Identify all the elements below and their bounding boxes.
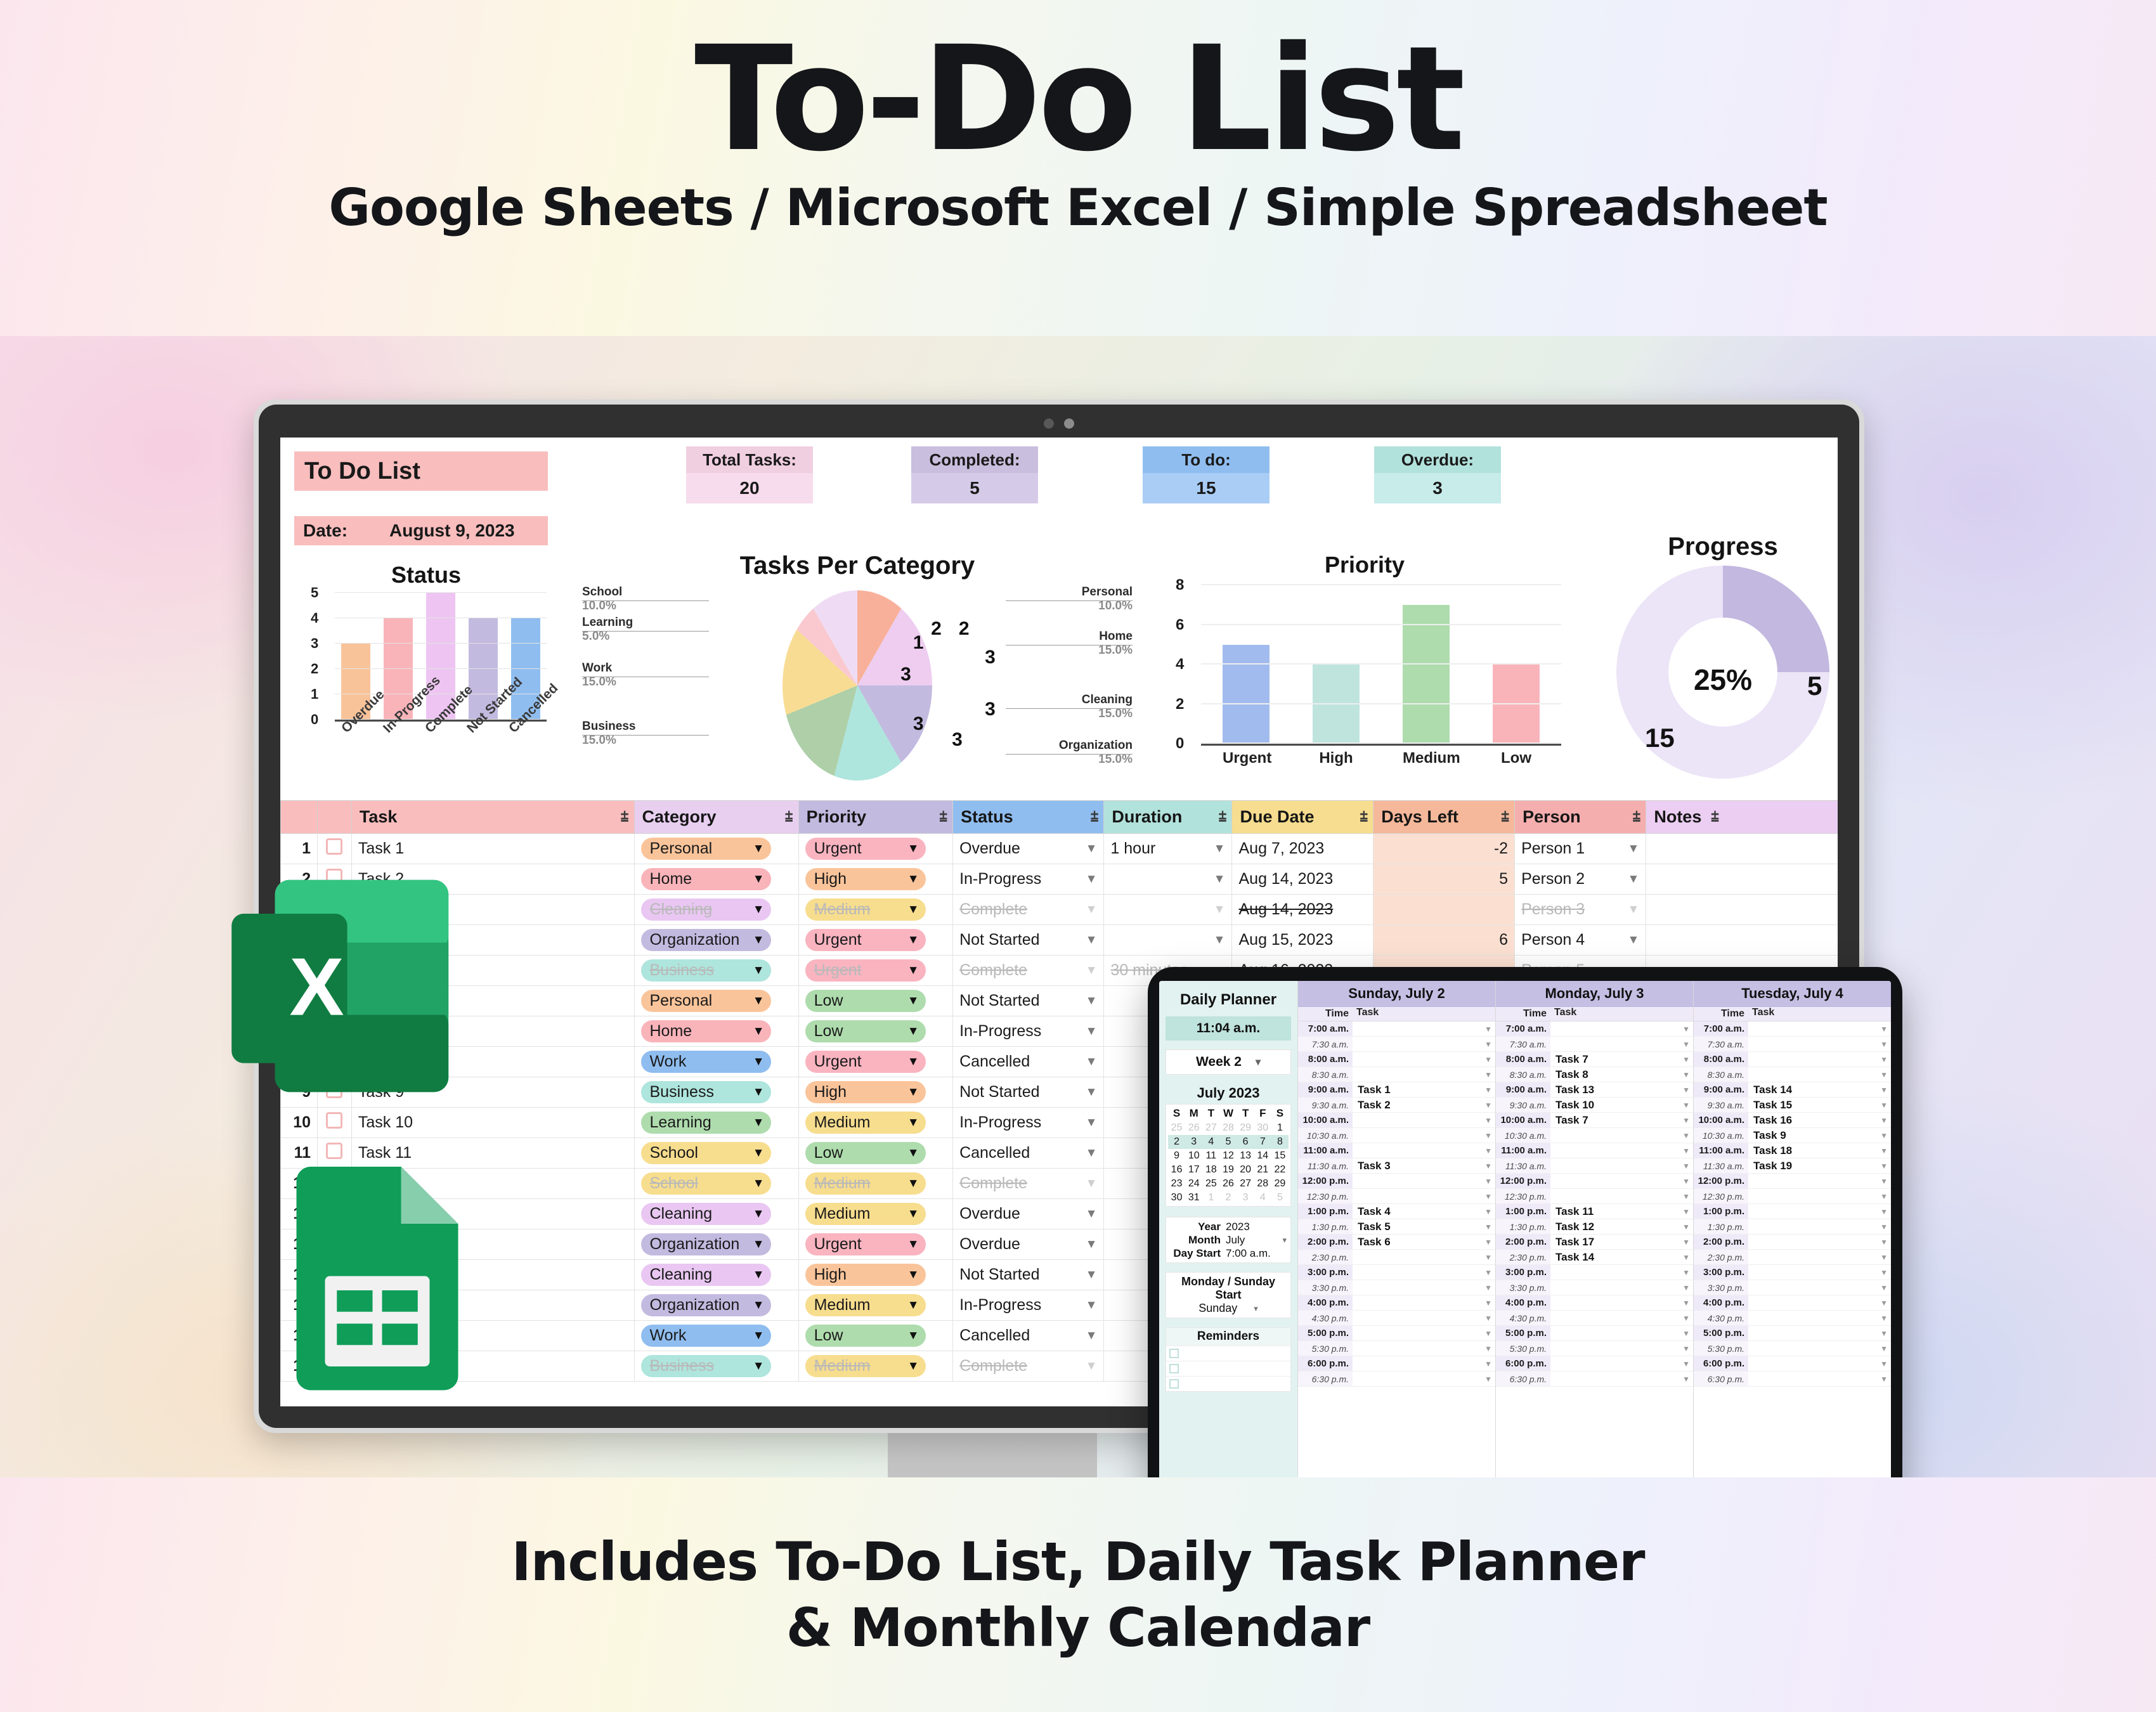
planner-time-slot[interactable]: 9:30 a.m.Task 10▼ (1496, 1098, 1693, 1113)
planner-time-slot[interactable]: 1:00 p.m.▼ (1694, 1204, 1891, 1219)
chevron-down-icon[interactable]: ▼ (753, 1116, 765, 1130)
checkbox-icon[interactable] (326, 838, 342, 855)
calendar-day-cell[interactable]: 2 (1219, 1191, 1237, 1205)
cell-priority[interactable]: Medium▼ (798, 1108, 953, 1138)
chevron-down-icon[interactable]: ▼ (1484, 1101, 1495, 1110)
table-row[interactable]: 4Task 4Organization▼Urgent▼Not Started▼▼… (281, 925, 1838, 956)
cell-duration[interactable]: ▼ (1104, 864, 1232, 895)
chevron-down-icon[interactable]: ▼ (1682, 1025, 1693, 1034)
planner-task-value[interactable]: Task 9 (1748, 1129, 1880, 1142)
chevron-down-icon[interactable]: ▼ (1484, 1086, 1495, 1094)
chevron-down-icon[interactable]: ▼ (1086, 1329, 1098, 1343)
chevron-down-icon[interactable]: ▼ (1086, 1055, 1098, 1069)
chevron-down-icon[interactable]: ▼ (1682, 1253, 1693, 1262)
chevron-down-icon[interactable]: ▼ (753, 1359, 765, 1373)
chevron-down-icon[interactable]: ▼ (1086, 1086, 1098, 1099)
planner-time-slot[interactable]: 10:00 a.m.Task 7▼ (1496, 1113, 1693, 1128)
cell-category[interactable]: Organization▼ (634, 925, 798, 956)
chevron-down-icon[interactable]: ▼ (753, 903, 765, 917)
cell-status[interactable]: In-Progress▼ (953, 864, 1104, 895)
col-days-left[interactable]: Days Left⩲ (1373, 801, 1515, 834)
planner-time-slot[interactable]: 6:30 p.m.▼ (1694, 1372, 1891, 1387)
calendar-day-cell[interactable]: 15 (1271, 1149, 1289, 1163)
chevron-down-icon[interactable]: ▼ (1484, 1070, 1495, 1079)
chevron-down-icon[interactable]: ▼ (1484, 1055, 1495, 1064)
chevron-down-icon[interactable]: ▼ (1682, 1040, 1693, 1049)
calendar-day-cell[interactable]: 23 (1168, 1177, 1185, 1191)
planner-task-value[interactable]: Task 8 (1550, 1068, 1682, 1081)
planner-task-value[interactable]: Task 14 (1550, 1251, 1682, 1264)
calendar-week-row[interactable]: 23242526272829 (1168, 1177, 1289, 1191)
chevron-down-icon[interactable]: ▼ (1484, 1314, 1495, 1323)
chevron-down-icon[interactable]: ▼ (1484, 1116, 1495, 1125)
chevron-down-icon[interactable]: ▼ (1214, 933, 1226, 947)
planner-task-value[interactable]: Task 7 (1550, 1053, 1682, 1066)
chevron-down-icon[interactable]: ▼ (1086, 1116, 1098, 1130)
chevron-down-icon[interactable]: ▼ (1880, 1192, 1891, 1201)
day-start-value[interactable]: 7:00 a.m. (1226, 1247, 1271, 1260)
checkbox-icon[interactable] (1169, 1364, 1179, 1373)
planner-task-value[interactable]: Task 12 (1550, 1221, 1682, 1233)
cell-task[interactable]: Task 10 (351, 1108, 634, 1138)
chevron-down-icon[interactable]: ▼ (1484, 1131, 1495, 1140)
planner-time-slot[interactable]: 7:30 a.m.▼ (1496, 1037, 1693, 1052)
chevron-down-icon[interactable]: ▼ (1484, 1283, 1495, 1292)
chevron-down-icon[interactable]: ▼ (753, 1299, 765, 1313)
chevron-down-icon[interactable]: ▼ (1086, 903, 1098, 917)
chevron-down-icon[interactable]: ▼ (1086, 1359, 1098, 1373)
checkbox-icon[interactable] (326, 1112, 342, 1129)
chevron-down-icon[interactable]: ▼ (1880, 1222, 1891, 1231)
planner-time-slot[interactable]: 2:00 p.m.Task 17▼ (1496, 1235, 1693, 1250)
chevron-down-icon[interactable]: ▼ (1682, 1070, 1693, 1079)
planner-task-value[interactable]: Task 15 (1748, 1099, 1880, 1112)
chevron-down-icon[interactable]: ▼ (1682, 1329, 1693, 1338)
cell-person[interactable]: Person 3▼ (1515, 895, 1646, 925)
chevron-down-icon[interactable]: ▼ (1682, 1192, 1693, 1201)
calendar-day-cell[interactable]: 22 (1271, 1163, 1289, 1177)
planner-time-slot[interactable]: 5:00 p.m.▼ (1496, 1326, 1693, 1341)
chevron-down-icon[interactable]: ▼ (1682, 1344, 1693, 1353)
calendar-day-cell[interactable]: 28 (1254, 1177, 1271, 1191)
calendar-day-cell[interactable]: 12 (1219, 1149, 1237, 1163)
planner-task-value[interactable]: Task 6 (1353, 1236, 1484, 1248)
chevron-down-icon[interactable]: ▼ (1214, 903, 1226, 917)
chevron-down-icon[interactable]: ▼ (1682, 1375, 1693, 1384)
chevron-down-icon[interactable]: ▼ (1628, 842, 1640, 856)
chevron-down-icon[interactable]: ▼ (907, 1207, 919, 1221)
col-status[interactable]: Status⩲ (953, 801, 1104, 834)
chevron-down-icon[interactable]: ▼ (1880, 1116, 1891, 1125)
cell-status[interactable]: In-Progress▼ (953, 1016, 1104, 1047)
filter-icon[interactable]: ⩲ (621, 809, 629, 826)
cell-category[interactable]: Business▼ (634, 956, 798, 986)
chevron-down-icon[interactable]: ▼ (1086, 842, 1098, 856)
calendar-day-cell[interactable]: 1 (1271, 1121, 1289, 1135)
cell-priority[interactable]: Low▼ (798, 1016, 953, 1047)
calendar-day-cell[interactable]: 3 (1237, 1191, 1254, 1205)
chevron-down-icon[interactable]: ▼ (1880, 1253, 1891, 1262)
cell-status[interactable]: In-Progress▼ (953, 1290, 1104, 1321)
calendar-day-cell[interactable]: 29 (1271, 1177, 1289, 1191)
chevron-down-icon[interactable]: ▼ (1880, 1375, 1891, 1384)
chevron-down-icon[interactable]: ▼ (1086, 964, 1098, 978)
chevron-down-icon[interactable]: ▼ (1484, 1375, 1495, 1384)
calendar-day-cell[interactable]: 9 (1168, 1149, 1185, 1163)
calendar-day-cell[interactable]: 21 (1254, 1163, 1271, 1177)
calendar-week-row[interactable]: 2526272829301 (1168, 1121, 1289, 1135)
row-checkbox-cell[interactable] (318, 1108, 352, 1138)
calendar-day-cell[interactable]: 28 (1219, 1121, 1237, 1135)
chevron-down-icon[interactable]: ▼ (1086, 1268, 1098, 1282)
col-person[interactable]: Person⩲ (1515, 801, 1646, 834)
calendar-day-cell[interactable]: 18 (1202, 1163, 1219, 1177)
table-row[interactable]: 2Task 2Home▼High▼In-Progress▼▼Aug 14, 20… (281, 864, 1838, 895)
reminder-item[interactable] (1166, 1346, 1290, 1361)
chevron-down-icon[interactable]: ▾ (1254, 1304, 1258, 1314)
chevron-down-icon[interactable]: ▼ (1484, 1192, 1495, 1201)
filter-icon[interactable]: ⩲ (1501, 809, 1509, 826)
checkbox-icon[interactable] (1169, 1349, 1179, 1358)
chevron-down-icon[interactable]: ▼ (1880, 1344, 1891, 1353)
planner-time-slot[interactable]: 3:30 p.m.▼ (1298, 1280, 1495, 1295)
calendar-day-cell[interactable]: 29 (1237, 1121, 1254, 1135)
planner-task-value[interactable]: Task 5 (1353, 1221, 1484, 1233)
filter-icon[interactable]: ⩲ (1091, 809, 1099, 826)
cell-status[interactable]: Not Started▼ (953, 925, 1104, 956)
cell-priority[interactable]: Medium▼ (798, 1169, 953, 1199)
chevron-down-icon[interactable]: ▼ (1682, 1086, 1693, 1094)
chevron-down-icon[interactable]: ▼ (1086, 994, 1098, 1008)
chevron-down-icon[interactable]: ▼ (1484, 1299, 1495, 1307)
week-selector[interactable]: Week 2 ▾ (1166, 1049, 1291, 1075)
chevron-down-icon[interactable]: ▼ (907, 1177, 919, 1191)
planner-time-slot[interactable]: 3:00 p.m.▼ (1496, 1265, 1693, 1280)
chevron-down-icon[interactable]: ▼ (907, 842, 919, 856)
cell-status[interactable]: Overdue▼ (953, 1199, 1104, 1229)
calendar-day-cell[interactable]: 26 (1219, 1177, 1237, 1191)
planner-time-slot[interactable]: 10:00 a.m.Task 16▼ (1694, 1113, 1891, 1128)
chevron-down-icon[interactable]: ▼ (907, 903, 919, 917)
planner-time-slot[interactable]: 7:00 a.m.▼ (1298, 1021, 1495, 1037)
chevron-down-icon[interactable]: ▼ (753, 1055, 765, 1069)
calendar-day-cell[interactable]: 31 (1185, 1191, 1202, 1205)
planner-time-slot[interactable]: 11:00 a.m.▼ (1298, 1143, 1495, 1158)
chevron-down-icon[interactable]: ▼ (753, 1207, 765, 1221)
cell-category[interactable]: Cleaning▼ (634, 1199, 798, 1229)
cell-category[interactable]: Work▼ (634, 1321, 798, 1351)
chevron-down-icon[interactable]: ▼ (753, 964, 765, 978)
cell-category[interactable]: Business▼ (634, 1077, 798, 1108)
calendar-day-cell[interactable]: 24 (1185, 1177, 1202, 1191)
chevron-down-icon[interactable]: ▼ (907, 1238, 919, 1252)
cell-priority[interactable]: Medium▼ (798, 1351, 953, 1382)
planner-time-slot[interactable]: 7:00 a.m.▼ (1694, 1021, 1891, 1037)
reminders-panel[interactable]: Reminders (1166, 1327, 1291, 1392)
planner-time-slot[interactable]: 8:30 a.m.▼ (1298, 1067, 1495, 1082)
chevron-down-icon[interactable]: ▼ (1484, 1025, 1495, 1034)
cell-due-date[interactable]: Aug 7, 2023 (1232, 834, 1373, 864)
cell-priority[interactable]: Urgent▼ (798, 925, 953, 956)
chevron-down-icon[interactable]: ▼ (753, 1025, 765, 1039)
cell-priority[interactable]: High▼ (798, 864, 953, 895)
table-row[interactable]: 1Task 1Personal▼Urgent▼Overdue▼1 hour▼Au… (281, 834, 1838, 864)
planner-time-slot[interactable]: 5:00 p.m.▼ (1694, 1326, 1891, 1341)
chevron-down-icon[interactable]: ▼ (1484, 1040, 1495, 1049)
planner-time-slot[interactable]: 2:30 p.m.▼ (1298, 1250, 1495, 1265)
planner-time-slot[interactable]: 4:00 p.m.▼ (1694, 1295, 1891, 1311)
cell-category[interactable]: Personal▼ (634, 986, 798, 1016)
cell-notes[interactable] (1646, 864, 1838, 895)
cell-due-date[interactable]: Aug 14, 2023 (1232, 895, 1373, 925)
planner-time-slot[interactable]: 4:30 p.m.▼ (1298, 1311, 1495, 1326)
planner-time-slot[interactable]: 6:00 p.m.▼ (1298, 1356, 1495, 1372)
filter-icon[interactable]: ⩲ (1360, 809, 1368, 826)
cell-duration[interactable]: ▼ (1104, 925, 1232, 956)
col-priority[interactable]: Priority⩲ (798, 801, 953, 834)
calendar-day-cell[interactable]: 11 (1202, 1149, 1219, 1163)
planner-task-value[interactable]: Task 1 (1353, 1084, 1484, 1096)
cell-category[interactable]: School▼ (634, 1138, 798, 1169)
planner-time-slot[interactable]: 10:30 a.m.▼ (1496, 1128, 1693, 1143)
cell-priority[interactable]: Urgent▼ (798, 1047, 953, 1077)
calendar-day-cell[interactable]: 6 (1237, 1135, 1254, 1149)
planner-time-slot[interactable]: 5:00 p.m.▼ (1298, 1326, 1495, 1341)
calendar-day-cell[interactable]: 27 (1202, 1121, 1219, 1135)
planner-time-slot[interactable]: 9:30 a.m.Task 2▼ (1298, 1098, 1495, 1113)
chevron-down-icon[interactable]: ▼ (1880, 1101, 1891, 1110)
planner-time-slot[interactable]: 11:00 a.m.▼ (1496, 1143, 1693, 1158)
planner-time-slot[interactable]: 12:30 p.m.▼ (1694, 1189, 1891, 1204)
calendar-day-cell[interactable]: 26 (1185, 1121, 1202, 1135)
chevron-down-icon[interactable]: ▼ (1880, 1086, 1891, 1094)
chevron-down-icon[interactable]: ▼ (1880, 1207, 1891, 1216)
planner-time-slot[interactable]: 1:30 p.m.▼ (1694, 1219, 1891, 1235)
calendar-day-cell[interactable]: 3 (1185, 1135, 1202, 1149)
chevron-down-icon[interactable]: ▼ (907, 933, 919, 947)
chevron-down-icon[interactable]: ▼ (1682, 1238, 1693, 1247)
planner-time-slot[interactable]: 9:00 a.m.Task 1▼ (1298, 1082, 1495, 1098)
chevron-down-icon[interactable]: ▼ (753, 872, 765, 886)
planner-time-slot[interactable]: 1:00 p.m.Task 4▼ (1298, 1204, 1495, 1219)
chevron-down-icon[interactable]: ▼ (1880, 1055, 1891, 1064)
chevron-down-icon[interactable]: ▼ (1880, 1025, 1891, 1034)
month-value[interactable]: July (1226, 1234, 1245, 1247)
planner-time-slot[interactable]: 5:30 p.m.▼ (1298, 1341, 1495, 1356)
chevron-down-icon[interactable]: ▼ (907, 964, 919, 978)
planner-time-slot[interactable]: 10:30 a.m.▼ (1298, 1128, 1495, 1143)
cell-due-date[interactable]: Aug 14, 2023 (1232, 864, 1373, 895)
chevron-down-icon[interactable]: ▼ (1682, 1299, 1693, 1307)
cell-priority[interactable]: Medium▼ (798, 1199, 953, 1229)
calendar-day-cell[interactable]: 30 (1168, 1191, 1185, 1205)
calendar-day-cell[interactable]: 25 (1202, 1177, 1219, 1191)
mini-calendar[interactable]: SMTWTFS252627282930123456789101112131415… (1166, 1104, 1291, 1207)
chevron-down-icon[interactable]: ▼ (907, 1359, 919, 1373)
reminder-item[interactable] (1166, 1376, 1290, 1391)
planner-time-slot[interactable]: 2:00 p.m.▼ (1694, 1235, 1891, 1250)
chevron-down-icon[interactable]: ▼ (1086, 872, 1098, 886)
calendar-day-cell[interactable]: 8 (1271, 1135, 1289, 1149)
planner-time-slot[interactable]: 4:30 p.m.▼ (1694, 1311, 1891, 1326)
calendar-day-cell[interactable]: 17 (1185, 1163, 1202, 1177)
chevron-down-icon[interactable]: ▼ (1086, 1146, 1098, 1160)
planner-time-slot[interactable]: 4:30 p.m.▼ (1496, 1311, 1693, 1326)
planner-time-slot[interactable]: 1:00 p.m.Task 11▼ (1496, 1204, 1693, 1219)
week-start-setting[interactable]: Monday / Sunday Start Sunday▾ (1166, 1272, 1291, 1318)
cell-category[interactable]: Personal▼ (634, 834, 798, 864)
calendar-day-cell[interactable]: 7 (1254, 1135, 1271, 1149)
planner-task-value[interactable]: Task 10 (1550, 1099, 1682, 1112)
planner-time-slot[interactable]: 12:00 p.m.▼ (1298, 1174, 1495, 1189)
cell-status[interactable]: Not Started▼ (953, 986, 1104, 1016)
planner-time-slot[interactable]: 6:30 p.m.▼ (1496, 1372, 1693, 1387)
planner-time-slot[interactable]: 8:00 a.m.▼ (1298, 1052, 1495, 1067)
calendar-day-cell[interactable]: 2 (1168, 1135, 1185, 1149)
chevron-down-icon[interactable]: ▼ (1484, 1222, 1495, 1231)
chevron-down-icon[interactable]: ▼ (1484, 1177, 1495, 1186)
planner-task-value[interactable]: Task 16 (1748, 1114, 1880, 1127)
calendar-day-cell[interactable]: 10 (1185, 1149, 1202, 1163)
cell-category[interactable]: School▼ (634, 1169, 798, 1199)
planner-time-slot[interactable]: 9:00 a.m.Task 13▼ (1496, 1082, 1693, 1098)
planner-time-slot[interactable]: 8:00 a.m.Task 7▼ (1496, 1052, 1693, 1067)
col-due-date[interactable]: Due Date⩲ (1232, 801, 1373, 834)
cell-status[interactable]: Cancelled▼ (953, 1321, 1104, 1351)
chevron-down-icon[interactable]: ▼ (1484, 1329, 1495, 1338)
planner-time-slot[interactable]: 1:30 p.m.Task 5▼ (1298, 1219, 1495, 1235)
cell-category[interactable]: Learning▼ (634, 1108, 798, 1138)
filter-icon[interactable]: ⩲ (1632, 809, 1640, 826)
planner-time-slot[interactable]: 4:00 p.m.▼ (1496, 1295, 1693, 1311)
table-row[interactable]: 3Task 3Cleaning▼Medium▼Complete▼▼Aug 14,… (281, 895, 1838, 925)
chevron-down-icon[interactable]: ▼ (1214, 872, 1226, 886)
calendar-day-cell[interactable]: 14 (1254, 1149, 1271, 1163)
cell-notes[interactable] (1646, 895, 1838, 925)
planner-time-slot[interactable]: 12:00 p.m.▼ (1694, 1174, 1891, 1189)
chevron-down-icon[interactable]: ▼ (1880, 1238, 1891, 1247)
chevron-down-icon[interactable]: ▼ (1086, 1207, 1098, 1221)
planner-time-slot[interactable]: 3:00 p.m.▼ (1694, 1265, 1891, 1280)
planner-time-slot[interactable]: 8:00 a.m.▼ (1694, 1052, 1891, 1067)
chevron-down-icon[interactable]: ▼ (1880, 1314, 1891, 1323)
chevron-down-icon[interactable]: ▼ (753, 933, 765, 947)
filter-icon[interactable]: ⩲ (785, 809, 793, 826)
planner-time-slot[interactable]: 12:00 p.m.▼ (1496, 1174, 1693, 1189)
planner-settings[interactable]: Year2023 MonthJuly▾ Day Start7:00 a.m. (1166, 1217, 1291, 1263)
cell-category[interactable]: Cleaning▼ (634, 1260, 798, 1290)
chevron-down-icon[interactable]: ▼ (753, 1268, 765, 1282)
chevron-down-icon[interactable]: ▼ (907, 1329, 919, 1343)
cell-duration[interactable]: ▼ (1104, 895, 1232, 925)
chevron-down-icon[interactable]: ▼ (1484, 1207, 1495, 1216)
planner-time-slot[interactable]: 9:30 a.m.Task 15▼ (1694, 1098, 1891, 1113)
calendar-week-row[interactable]: 16171819202122 (1168, 1163, 1289, 1177)
chevron-down-icon[interactable]: ▾ (1282, 1235, 1287, 1245)
chevron-down-icon[interactable]: ▼ (753, 1146, 765, 1160)
planner-time-slot[interactable]: 3:00 p.m.▼ (1298, 1265, 1495, 1280)
cell-priority[interactable]: Urgent▼ (798, 1229, 953, 1260)
filter-icon[interactable]: ⩲ (939, 809, 947, 826)
chevron-down-icon[interactable]: ▼ (1880, 1359, 1891, 1368)
cell-priority[interactable]: Medium▼ (798, 1290, 953, 1321)
planner-time-slot[interactable]: 10:00 a.m.▼ (1298, 1113, 1495, 1128)
calendar-day-cell[interactable]: 1 (1202, 1191, 1219, 1205)
chevron-down-icon[interactable]: ▼ (907, 994, 919, 1008)
chevron-down-icon[interactable]: ▼ (1484, 1268, 1495, 1277)
planner-time-slot[interactable]: 7:30 a.m.▼ (1694, 1037, 1891, 1052)
cell-person[interactable]: Person 1▼ (1515, 834, 1646, 864)
planner-time-slot[interactable]: 6:00 p.m.▼ (1496, 1356, 1693, 1372)
chevron-down-icon[interactable]: ▼ (1682, 1222, 1693, 1231)
calendar-day-cell[interactable]: 19 (1219, 1163, 1237, 1177)
planner-task-value[interactable]: Task 18 (1748, 1145, 1880, 1157)
cell-status[interactable]: Cancelled▼ (953, 1138, 1104, 1169)
planner-time-slot[interactable]: 2:30 p.m.▼ (1694, 1250, 1891, 1265)
chevron-down-icon[interactable]: ▼ (1628, 872, 1640, 886)
planner-time-slot[interactable]: 7:30 a.m.▼ (1298, 1037, 1495, 1052)
planner-time-slot[interactable]: 5:30 p.m.▼ (1496, 1341, 1693, 1356)
planner-task-value[interactable]: Task 7 (1550, 1114, 1682, 1127)
chevron-down-icon[interactable]: ▼ (753, 1177, 765, 1191)
chevron-down-icon[interactable]: ▼ (1880, 1268, 1891, 1277)
calendar-day-cell[interactable]: 20 (1237, 1163, 1254, 1177)
col-task[interactable]: Task⩲ (351, 801, 634, 834)
chevron-down-icon[interactable]: ▼ (1682, 1359, 1693, 1368)
cell-status[interactable]: Not Started▼ (953, 1260, 1104, 1290)
date-value[interactable]: August 9, 2023 (389, 521, 515, 541)
chevron-down-icon[interactable]: ▼ (1880, 1146, 1891, 1155)
cell-status[interactable]: Complete▼ (953, 1169, 1104, 1199)
chevron-down-icon[interactable]: ▼ (1682, 1162, 1693, 1171)
year-value[interactable]: 2023 (1226, 1221, 1250, 1233)
chevron-down-icon[interactable]: ▼ (1880, 1299, 1891, 1307)
planner-time-slot[interactable]: 10:30 a.m.Task 9▼ (1694, 1128, 1891, 1143)
cell-status[interactable]: Complete▼ (953, 956, 1104, 986)
chevron-down-icon[interactable]: ▼ (1086, 1299, 1098, 1313)
planner-task-value[interactable]: Task 11 (1550, 1205, 1682, 1218)
planner-time-slot[interactable]: 12:30 p.m.▼ (1298, 1189, 1495, 1204)
cell-notes[interactable] (1646, 925, 1838, 956)
chevron-down-icon[interactable]: ▼ (1880, 1162, 1891, 1171)
cell-status[interactable]: Cancelled▼ (953, 1047, 1104, 1077)
planner-time-slot[interactable]: 3:30 p.m.▼ (1496, 1280, 1693, 1295)
cell-category[interactable]: Cleaning▼ (634, 895, 798, 925)
cell-status[interactable]: Complete▼ (953, 1351, 1104, 1382)
filter-icon[interactable]: ⩲ (1219, 809, 1227, 826)
chevron-down-icon[interactable]: ▼ (907, 1268, 919, 1282)
calendar-week-row[interactable]: 303112345 (1168, 1191, 1289, 1205)
chevron-down-icon[interactable]: ▼ (1086, 1025, 1098, 1039)
calendar-day-cell[interactable]: 30 (1254, 1121, 1271, 1135)
planner-time-slot[interactable]: 2:00 p.m.Task 6▼ (1298, 1235, 1495, 1250)
chevron-down-icon[interactable]: ▼ (1880, 1283, 1891, 1292)
chevron-down-icon[interactable]: ▼ (753, 842, 765, 856)
chevron-down-icon[interactable]: ▼ (1682, 1268, 1693, 1277)
chevron-down-icon[interactable]: ▼ (1682, 1177, 1693, 1186)
cell-priority[interactable]: Medium▼ (798, 895, 953, 925)
chevron-down-icon[interactable]: ▼ (1682, 1314, 1693, 1323)
chevron-down-icon[interactable]: ▼ (907, 1086, 919, 1099)
calendar-day-cell[interactable]: 4 (1254, 1191, 1271, 1205)
planner-time-slot[interactable]: 4:00 p.m.▼ (1298, 1295, 1495, 1311)
cell-category[interactable]: Home▼ (634, 1016, 798, 1047)
chevron-down-icon[interactable]: ▼ (1484, 1253, 1495, 1262)
planner-task-value[interactable]: Task 13 (1550, 1084, 1682, 1096)
planner-time-slot[interactable]: 12:30 p.m.▼ (1496, 1189, 1693, 1204)
planner-time-slot[interactable]: 3:30 p.m.▼ (1694, 1280, 1891, 1295)
chevron-down-icon[interactable]: ▼ (1682, 1283, 1693, 1292)
